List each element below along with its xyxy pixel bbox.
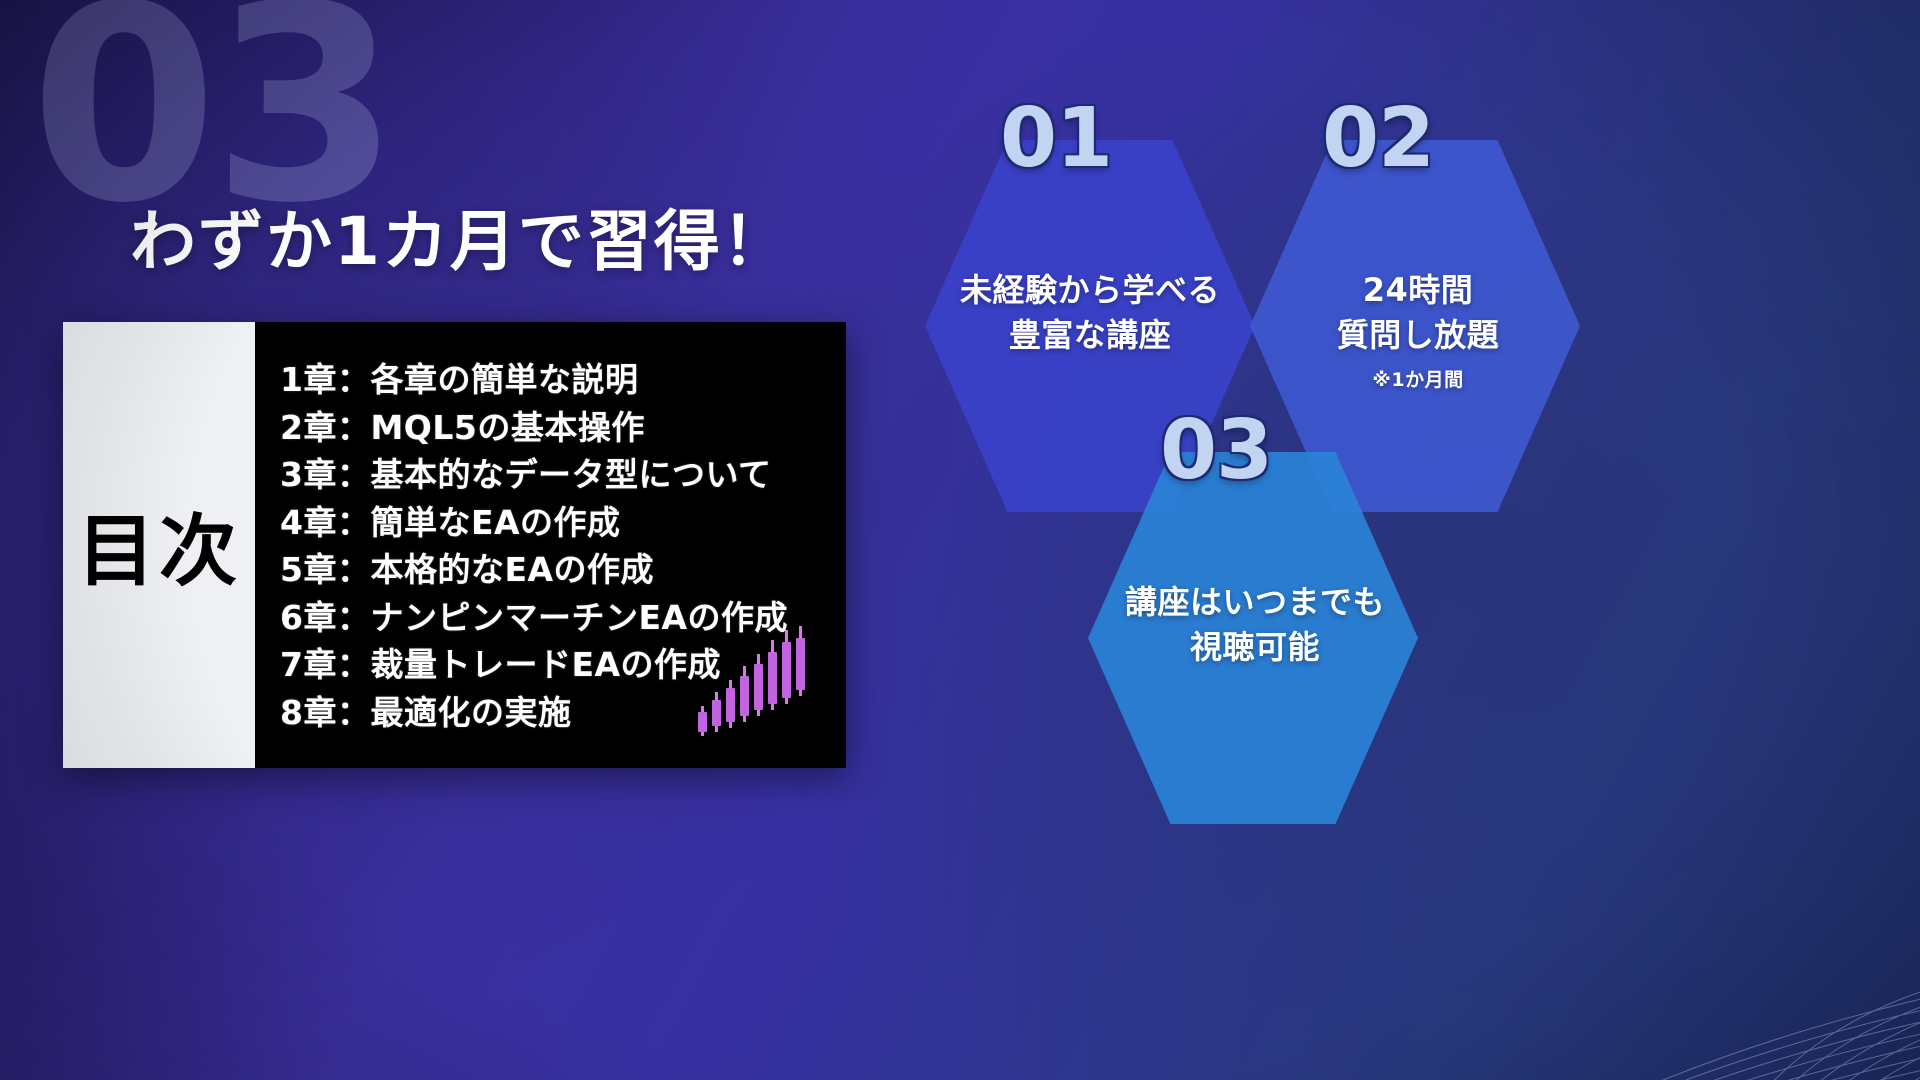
list-item: 4章：簡単なEAの作成: [280, 499, 846, 547]
candlestick-chart-icon: [698, 626, 828, 746]
list-item: 3章：基本的なデータ型について: [280, 451, 846, 499]
toc-label-panel: 目次: [63, 322, 255, 768]
list-item: 1章：各章の簡単な説明: [280, 356, 846, 404]
list-item: 5章：本格的なEAの作成: [280, 546, 846, 594]
feature-text-03-line1: 講座はいつまでも: [1085, 580, 1425, 625]
feature-text-02: 24時間 質問し放題 ※1か月間: [1248, 268, 1588, 394]
feature-text-02-line1: 24時間: [1248, 268, 1588, 313]
feature-text-02-note: ※1か月間: [1248, 367, 1588, 394]
feature-text-02-line2: 質問し放題: [1248, 313, 1588, 358]
feature-text-01-line2: 豊富な講座: [920, 313, 1260, 358]
list-item: 2章：MQL5の基本操作: [280, 404, 846, 452]
page-title: わずか1カ月で習得！: [130, 188, 790, 284]
feature-number-01: 01: [1000, 98, 1112, 180]
feature-text-01: 未経験から学べる 豊富な講座: [920, 268, 1260, 359]
feature-text-03-line2: 視聴可能: [1085, 625, 1425, 670]
toc-label: 目次: [77, 489, 241, 601]
decorative-wave-lines: [1530, 780, 1920, 1080]
feature-text-01-line1: 未経験から学べる: [920, 268, 1260, 313]
toc-list-panel: 1章：各章の簡単な説明 2章：MQL5の基本操作 3章：基本的なデータ型について…: [255, 322, 846, 768]
slide-canvas: 03 わずか1カ月で習得！ 目次 1章：各章の簡単な説明 2章：MQL5の基本操…: [0, 0, 1920, 1080]
feature-text-03: 講座はいつまでも 視聴可能: [1085, 580, 1425, 671]
feature-number-02: 02: [1322, 98, 1434, 180]
table-of-contents-card: 目次 1章：各章の簡単な説明 2章：MQL5の基本操作 3章：基本的なデータ型に…: [63, 322, 846, 768]
feature-number-03: 03: [1160, 410, 1272, 492]
